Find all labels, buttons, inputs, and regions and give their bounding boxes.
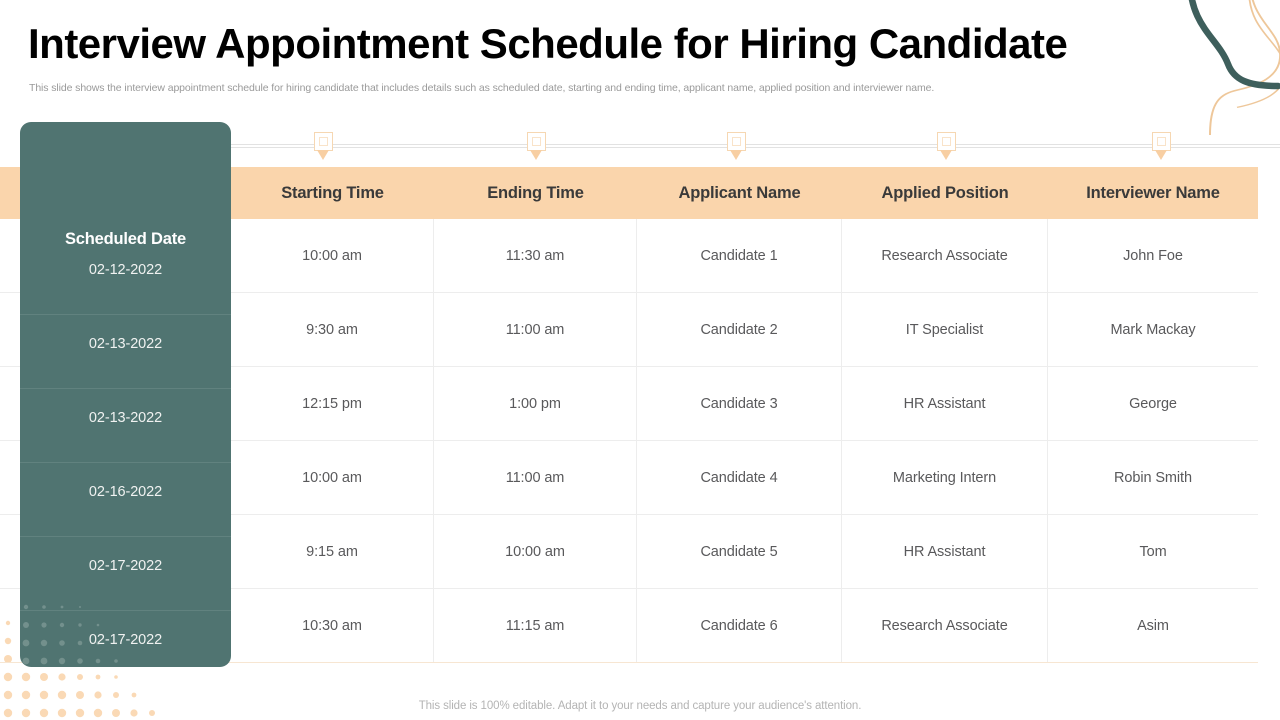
square-pin-marker-icon — [314, 132, 334, 164]
cell-ending-time: 11:15 am — [434, 589, 637, 662]
cell-interviewer-name: Robin Smith — [1048, 441, 1258, 514]
column-header-applicant-name[interactable]: Applicant Name — [637, 167, 842, 219]
cell-scheduled-date-label: 02-13-2022 — [20, 315, 231, 389]
cell-interviewer-name: Asim — [1048, 589, 1258, 662]
cell-scheduled-date-label: 02-13-2022 — [20, 389, 231, 463]
cell-applied-position: HR Assistant — [842, 367, 1048, 440]
cell-starting-time: 9:30 am — [231, 293, 434, 366]
square-pin-marker-icon — [937, 132, 957, 164]
rail-line-bottom — [231, 147, 1280, 148]
slide-canvas: Interview Appointment Schedule for Hirin… — [0, 0, 1280, 720]
cell-applied-position: Marketing Intern — [842, 441, 1048, 514]
column-header-starting-time[interactable]: Starting Time — [231, 167, 434, 219]
scheduled-date-column-panel: Scheduled Date 02-12-2022 02-13-2022 02-… — [20, 122, 231, 667]
cell-ending-time: 1:00 pm — [434, 367, 637, 440]
cell-starting-time: 10:00 am — [231, 441, 434, 514]
cell-interviewer-name: George — [1048, 367, 1258, 440]
column-header-ending-time[interactable]: Ending Time — [434, 167, 637, 219]
cell-ending-time: 10:00 am — [434, 515, 637, 588]
cell-scheduled-date-label: 02-16-2022 — [20, 463, 231, 537]
page-title: Interview Appointment Schedule for Hirin… — [28, 20, 1067, 68]
slide-footer-note: This slide is 100% editable. Adapt it to… — [0, 700, 1280, 712]
square-pin-marker-icon — [527, 132, 547, 164]
cell-interviewer-name: Tom — [1048, 515, 1258, 588]
cell-starting-time: 10:30 am — [231, 589, 434, 662]
cell-starting-time: 9:15 am — [231, 515, 434, 588]
cell-applied-position: IT Specialist — [842, 293, 1048, 366]
cell-interviewer-name: Mark Mackay — [1048, 293, 1258, 366]
connector-rail — [231, 144, 1280, 148]
cell-ending-time: 11:00 am — [434, 441, 637, 514]
rail-line-top — [231, 144, 1280, 145]
cell-applicant-name: Candidate 1 — [637, 219, 842, 292]
dot-grid-decoration-icon — [20, 591, 150, 667]
cell-applicant-name: Candidate 2 — [637, 293, 842, 366]
cell-starting-time: 10:00 am — [231, 219, 434, 292]
cell-applicant-name: Candidate 6 — [637, 589, 842, 662]
cell-ending-time: 11:00 am — [434, 293, 637, 366]
cell-starting-time: 12:15 pm — [231, 367, 434, 440]
column-header-applied-position[interactable]: Applied Position — [842, 167, 1048, 219]
square-pin-marker-icon — [727, 132, 747, 164]
cell-applicant-name: Candidate 5 — [637, 515, 842, 588]
cell-scheduled-date-label: 02-12-2022 — [20, 241, 231, 315]
cell-applicant-name: Candidate 3 — [637, 367, 842, 440]
square-pin-marker-icon — [1152, 132, 1172, 164]
wave-curve-decoration-icon — [1120, 0, 1280, 135]
page-subtitle: This slide shows the interview appointme… — [29, 82, 934, 94]
cell-applicant-name: Candidate 4 — [637, 441, 842, 514]
cell-applied-position: HR Assistant — [842, 515, 1048, 588]
cell-applied-position: Research Associate — [842, 219, 1048, 292]
cell-applied-position: Research Associate — [842, 589, 1048, 662]
cell-ending-time: 11:30 am — [434, 219, 637, 292]
column-header-interviewer-name[interactable]: Interviewer Name — [1048, 167, 1258, 219]
cell-interviewer-name: John Foe — [1048, 219, 1258, 292]
